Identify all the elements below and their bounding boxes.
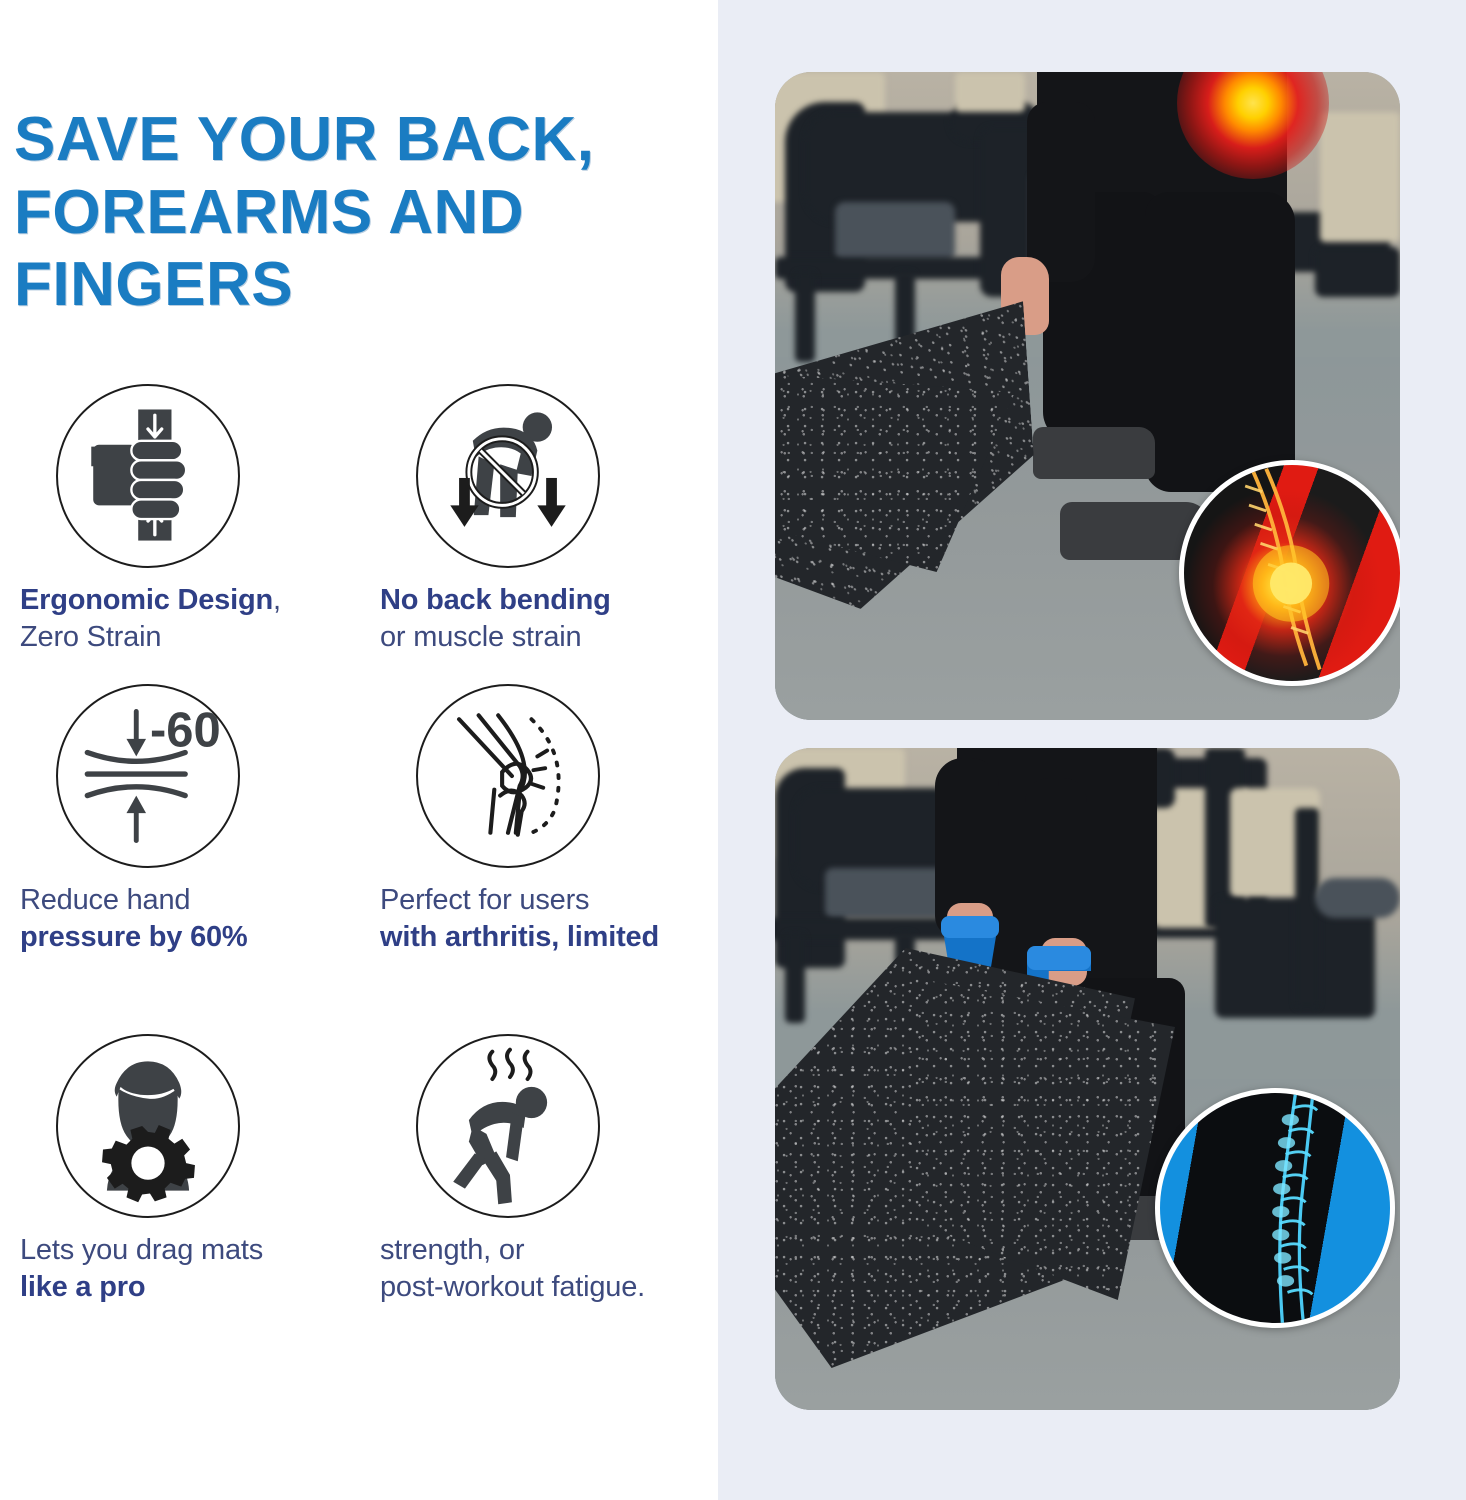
no-back-bending-icon <box>416 384 600 568</box>
feature-item-post-workout-fatigue: strength, or post-workout fatigue. <box>370 1034 718 1364</box>
pressure-reduction-value: -60 <box>150 704 221 758</box>
knee-joint-mobility-icon <box>416 684 600 868</box>
feature-caption: Ergonomic Design, Zero Strain <box>20 582 360 657</box>
infographic-page: SAVE YOUR BACK, FOREARMS AND FINGERS <box>0 0 1466 1500</box>
right-photo-panel <box>718 0 1466 1500</box>
feature-caption-bold: pressure by 60% <box>20 921 248 953</box>
feature-caption-line1: Lets you drag mats <box>20 1234 263 1266</box>
fatigued-person-icon <box>416 1034 600 1218</box>
feature-caption: Lets you drag mats like a pro <box>20 1232 360 1307</box>
feature-caption-line2: Zero Strain <box>20 621 161 653</box>
feature-caption: Reduce hand pressure by 60% <box>20 882 360 957</box>
feature-caption: No back bending or muscle strain <box>380 582 720 657</box>
feature-caption-line2: or muscle strain <box>380 621 581 653</box>
gripping-hand-compression-icon <box>56 384 240 568</box>
person-gear-pro-icon <box>56 1034 240 1218</box>
inset-healthy-spine <box>1155 1088 1395 1328</box>
feature-caption-bold: No back bending <box>380 584 611 616</box>
photo-manual-mat-drag <box>775 72 1400 720</box>
feature-caption-line1: Perfect for users <box>380 884 589 916</box>
feature-caption-line2: post-workout fatigue. <box>380 1271 645 1303</box>
inset-inflamed-spine <box>1179 460 1400 686</box>
feature-caption-bold: Ergonomic Design <box>20 584 273 616</box>
feature-item-drag-like-pro: Lets you drag mats like a pro <box>0 1034 370 1364</box>
feature-caption: strength, or post-workout fatigue. <box>380 1232 720 1307</box>
feature-caption-bold: with arthritis, limited <box>380 921 659 953</box>
feature-caption-line1: strength, or <box>380 1234 524 1266</box>
feature-item-ergonomic-design: Ergonomic Design, Zero Strain <box>0 384 370 684</box>
feature-caption: Perfect for users with arthritis, limite… <box>380 882 720 957</box>
feature-item-no-back-bending: No back bending or muscle strain <box>370 384 718 684</box>
pressure-reduction-icon: -60 <box>56 684 240 868</box>
page-headline: SAVE YOUR BACK, FOREARMS AND FINGERS <box>14 104 714 322</box>
feature-item-pressure-reduction: -60 Reduce hand pressure by 60% <box>0 684 370 1034</box>
left-content-panel: SAVE YOUR BACK, FOREARMS AND FINGERS <box>0 0 718 1500</box>
photo-tool-assisted-mat-carry <box>775 748 1400 1410</box>
feature-item-arthritis-friendly: Perfect for users with arthritis, limite… <box>370 684 718 1034</box>
feature-grid: Ergonomic Design, Zero Strain <box>0 384 718 1364</box>
feature-caption-tail: , <box>273 584 281 616</box>
feature-caption-bold: like a pro <box>20 1271 145 1303</box>
feature-caption-line1: Reduce hand <box>20 884 190 916</box>
